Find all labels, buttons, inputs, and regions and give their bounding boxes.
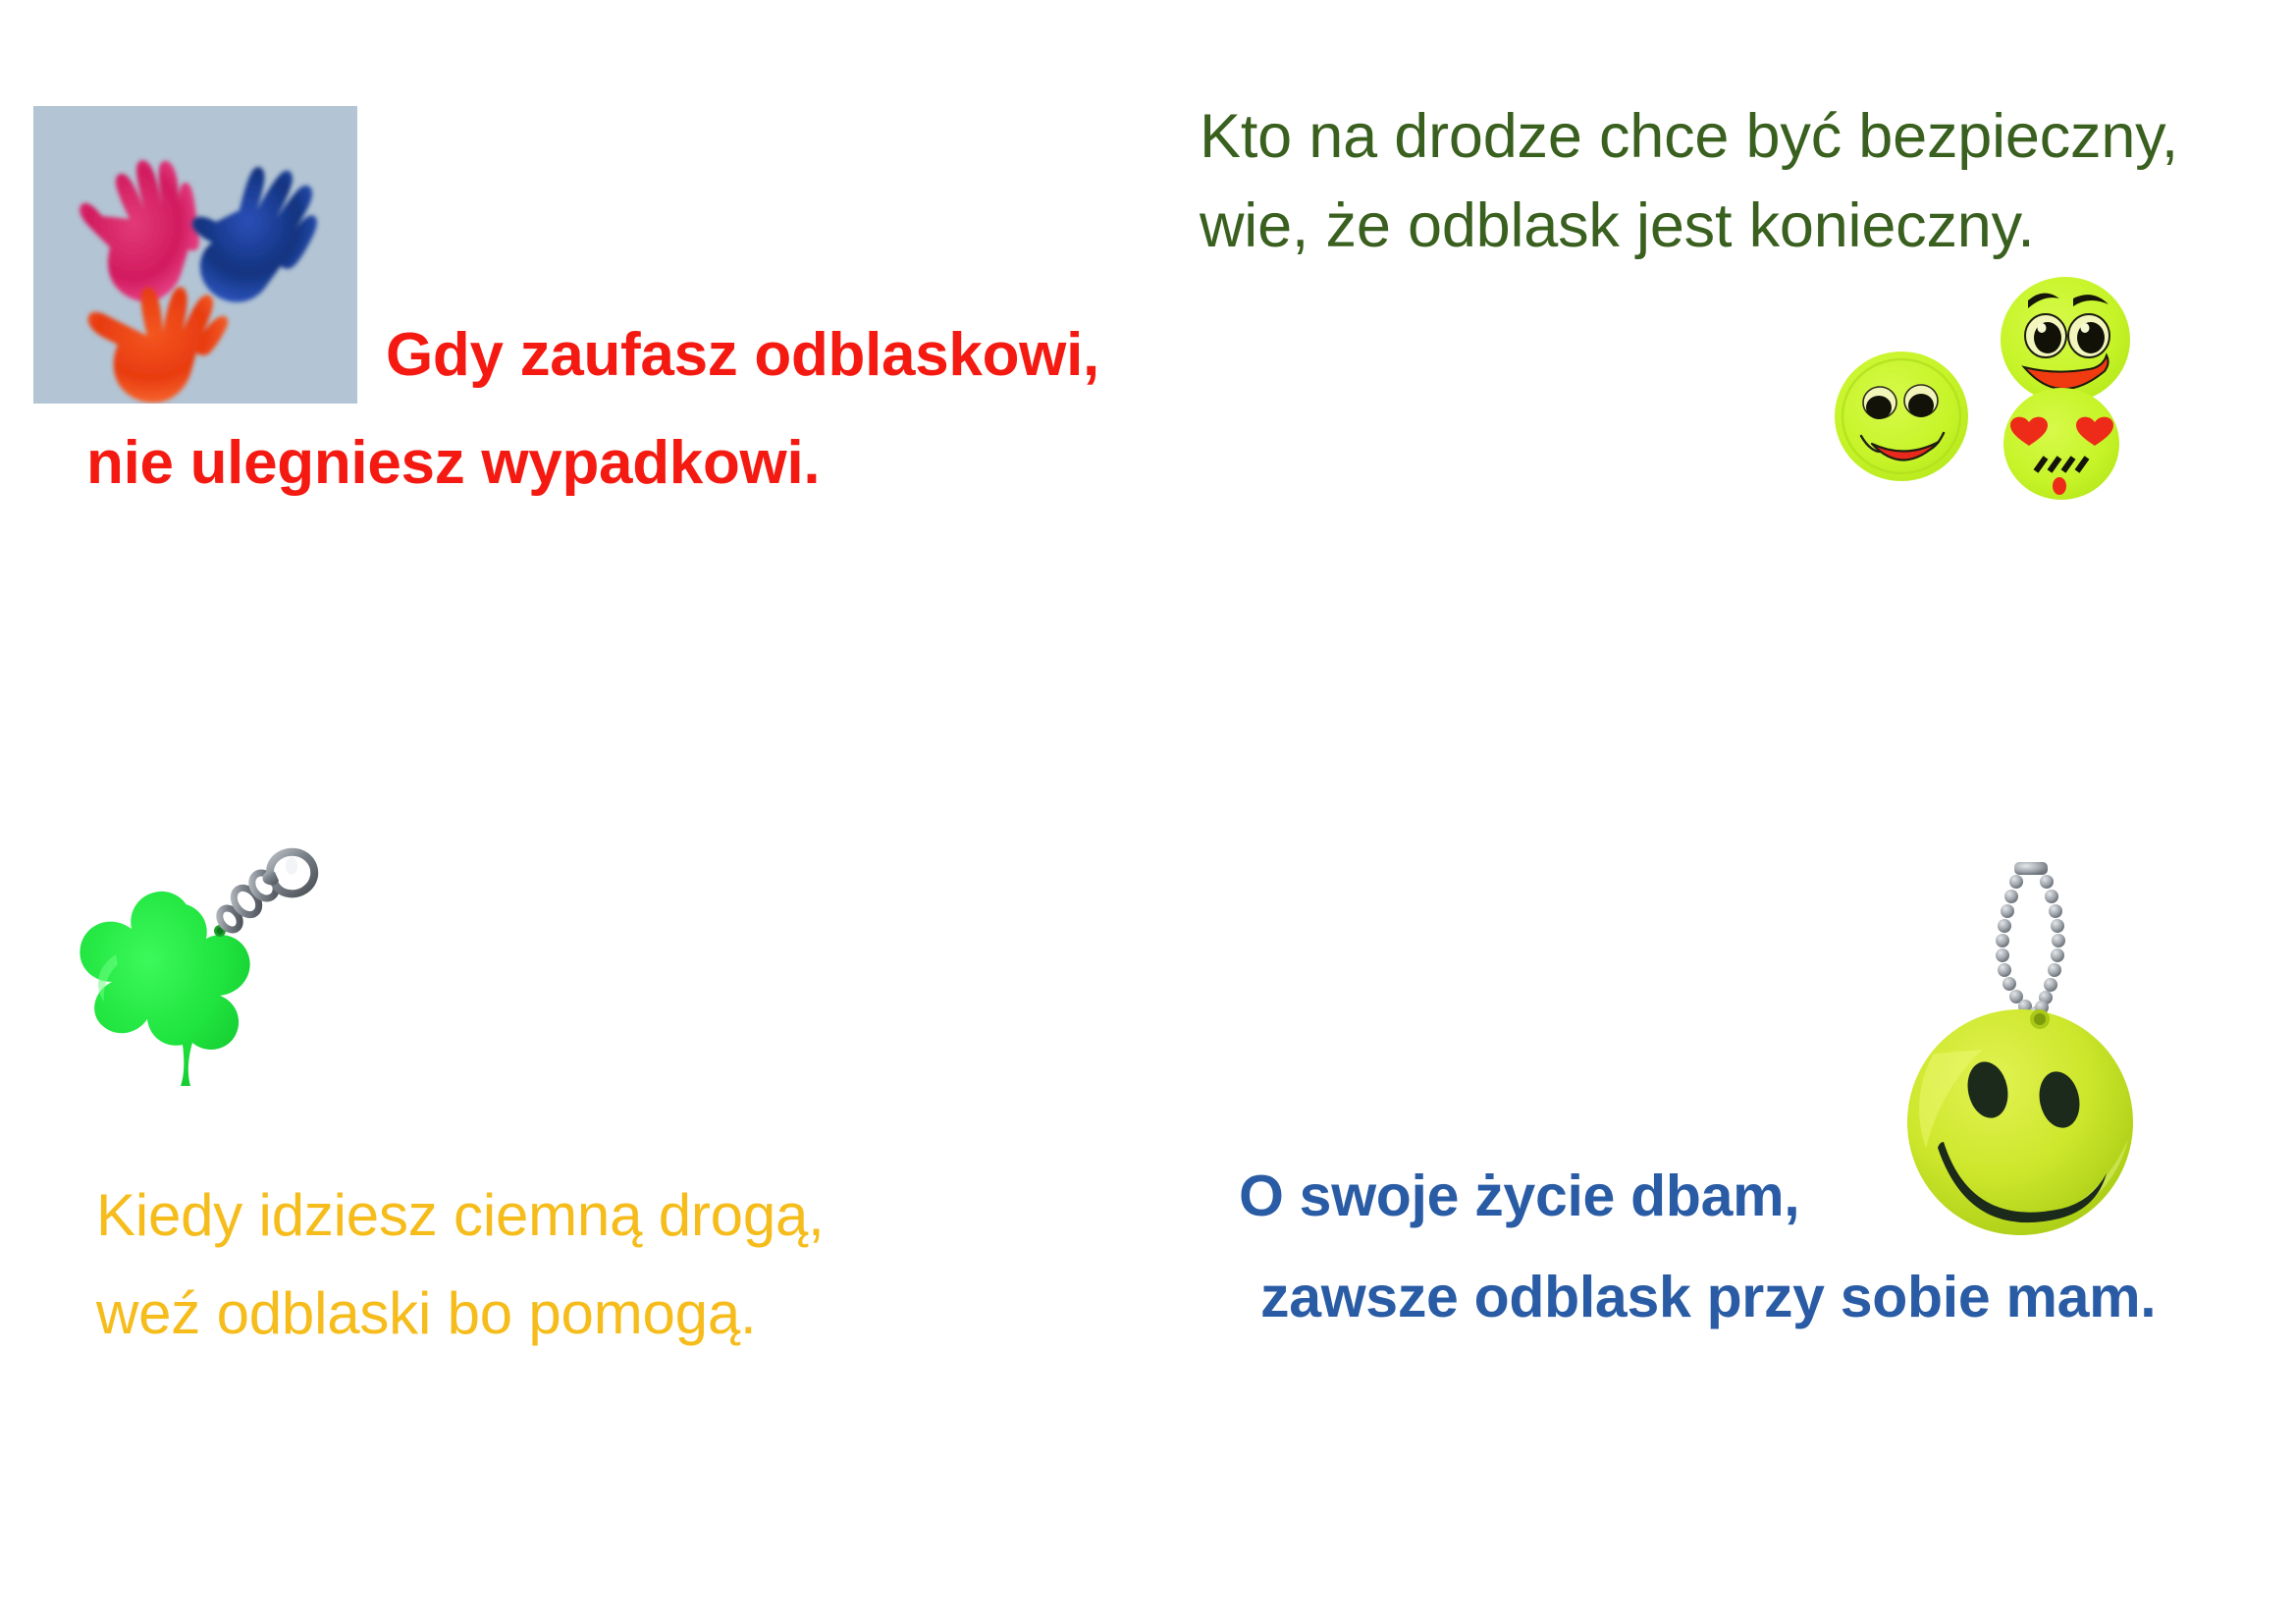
verse-green-line-2: wie, że odblask jest konieczny. bbox=[1200, 195, 2178, 257]
verse-blue: O swoje życie dbam, zawsze odblask przy … bbox=[1239, 1167, 2156, 1326]
verse-blue-line-2: zawsze odblask przy sobie mam. bbox=[1239, 1269, 2156, 1326]
smiley-reflector-trio bbox=[1828, 257, 2162, 503]
verse-yellow-line-1: Kiedy idziesz ciemną drogą, bbox=[96, 1186, 825, 1245]
verse-red-line-2: nie ulegniesz wypadkowi. bbox=[86, 433, 1099, 494]
verse-yellow-line-2: weź odblaski bo pomogą. bbox=[96, 1284, 825, 1343]
clover-reflector-keychain bbox=[22, 837, 355, 1131]
poster-canvas: Kto na drodze chce być bezpieczny, wie, … bbox=[0, 0, 2296, 1624]
verse-red: Gdy zaufasz odblaskowi, nie ulegniesz wy… bbox=[86, 325, 1099, 494]
verse-yellow: Kiedy idziesz ciemną drogą, weź odblaski… bbox=[96, 1186, 825, 1343]
ball-chain bbox=[1996, 862, 2065, 1020]
verse-red-line-1: Gdy zaufasz odblaskowi, bbox=[86, 325, 1099, 386]
verse-green-line-1: Kto na drodze chce być bezpieczny, bbox=[1200, 106, 2178, 168]
smiley-plain bbox=[1835, 352, 1968, 481]
verse-green: Kto na drodze chce być bezpieczny, wie, … bbox=[1200, 106, 2178, 257]
lobster-clasp bbox=[263, 852, 315, 894]
smiley-heart-eyes bbox=[2003, 388, 2119, 500]
verse-blue-line-1: O swoje życie dbam, bbox=[1239, 1167, 2156, 1225]
smiley-eyebrows bbox=[2001, 277, 2130, 403]
clover-shape bbox=[80, 892, 249, 1086]
